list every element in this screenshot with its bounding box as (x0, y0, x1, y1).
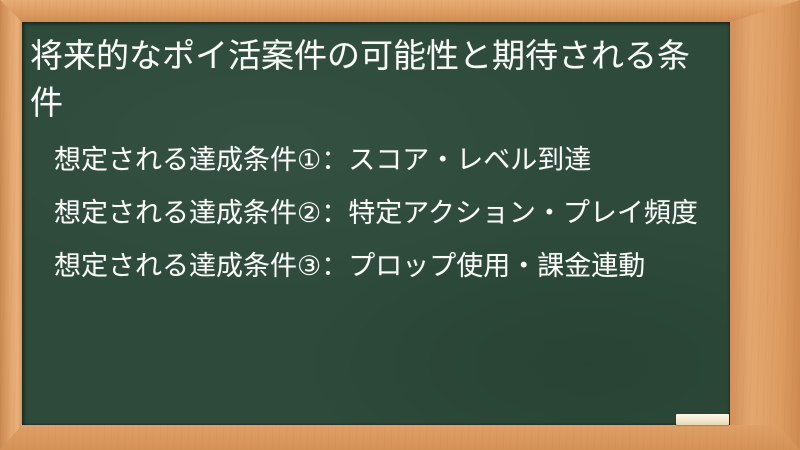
chalk-stick-icon (676, 414, 729, 425)
slide-title: 将来的なポイ活案件の可能性と期待される条件 (30, 28, 720, 126)
wooden-frame-top (0, 0, 800, 22)
bullet-item-2: 想定される達成条件②：特定アクション・プレイ頻度 (30, 195, 720, 233)
bullet-item-1: 想定される達成条件①：スコア・レベル到達 (30, 142, 720, 180)
bullet-item-3: 想定される達成条件③：プロップ使用・課金連動 (30, 248, 720, 286)
wooden-frame-right (730, 0, 800, 450)
chalkboard-surface: 将来的なポイ活案件の可能性と期待される条件 想定される達成条件①：スコア・レベル… (22, 22, 730, 425)
chalkboard-content: 将来的なポイ活案件の可能性と期待される条件 想定される達成条件①：スコア・レベル… (22, 22, 730, 425)
chalkboard-slide: 将来的なポイ活案件の可能性と期待される条件 想定される達成条件①：スコア・レベル… (0, 0, 800, 450)
wooden-frame-bottom-ledge (0, 425, 800, 450)
wooden-frame-left (0, 0, 22, 450)
bullet-list: 想定される達成条件①：スコア・レベル到達 想定される達成条件②：特定アクション・… (30, 142, 720, 286)
